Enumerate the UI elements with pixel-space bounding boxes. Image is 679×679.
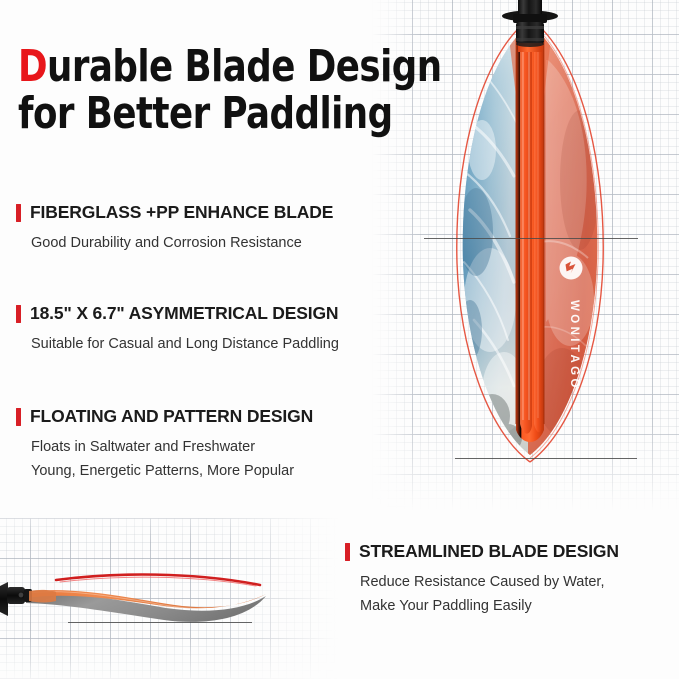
blade-baseline-measure-line: [455, 458, 637, 459]
title-line-2: for Better Paddling: [18, 91, 378, 138]
feature-heading-row: 18.5" X 6.7" ASYMMETRICAL DESIGN: [16, 303, 339, 324]
feature-block-streamlined: STREAMLINED BLADE DESIGN Reduce Resistan…: [345, 541, 619, 618]
feature-block-fiberglass: FIBERGLASS +PP ENHANCE BLADE Good Durabi…: [16, 202, 333, 254]
red-bullet-icon: [16, 204, 21, 222]
red-bullet-icon: [16, 305, 21, 323]
feature-subtitle: Good Durability and Corrosion Resistance: [31, 232, 333, 254]
red-bullet-icon: [345, 543, 350, 561]
feature-heading-row: FLOATING AND PATTERN DESIGN: [16, 406, 313, 427]
title-line-1-rest: urable Blade Design: [47, 41, 441, 92]
title-drop-cap: D: [18, 41, 47, 92]
feature-subtitle: Floats in Saltwater and Freshwater: [31, 436, 313, 458]
feature-heading-row: STREAMLINED BLADE DESIGN: [345, 541, 619, 562]
title-line-1: Durable Blade Design: [18, 44, 378, 91]
page-title: Durable Blade Design for Better Paddling: [18, 44, 378, 137]
infographic-canvas: Durable Blade Design for Better Paddling…: [0, 0, 679, 679]
paddle-blade-front-view: WONITAGO: [430, 0, 630, 470]
feature-title: 18.5" X 6.7" ASYMMETRICAL DESIGN: [30, 303, 338, 324]
feature-title: STREAMLINED BLADE DESIGN: [359, 541, 619, 562]
paddle-blade-side-profile: [0, 556, 308, 636]
feature-title: FLOATING AND PATTERN DESIGN: [30, 406, 313, 427]
feature-block-asymmetrical: 18.5" X 6.7" ASYMMETRICAL DESIGN Suitabl…: [16, 303, 339, 355]
feature-subtitle-secondary: Make Your Paddling Easily: [360, 595, 619, 617]
feature-subtitle-secondary: Young, Energetic Patterns, More Popular: [31, 460, 313, 482]
blade-width-measure-line: [424, 238, 638, 239]
brand-wordmark: WONITAGO: [568, 300, 580, 391]
paddle-ferrule: [502, 0, 558, 52]
red-bullet-icon: [16, 408, 21, 426]
feature-subtitle: Suitable for Casual and Long Distance Pa…: [31, 333, 339, 355]
feature-heading-row: FIBERGLASS +PP ENHANCE BLADE: [16, 202, 333, 223]
feature-subtitle: Reduce Resistance Caused by Water,: [360, 571, 619, 593]
feature-block-floating: FLOATING AND PATTERN DESIGN Floats in Sa…: [16, 406, 313, 483]
profile-reference-line: [68, 622, 252, 623]
blade-surface-graphics: [450, 10, 620, 470]
profile-ferrule: [0, 582, 56, 616]
feature-title: FIBERGLASS +PP ENHANCE BLADE: [30, 202, 333, 223]
